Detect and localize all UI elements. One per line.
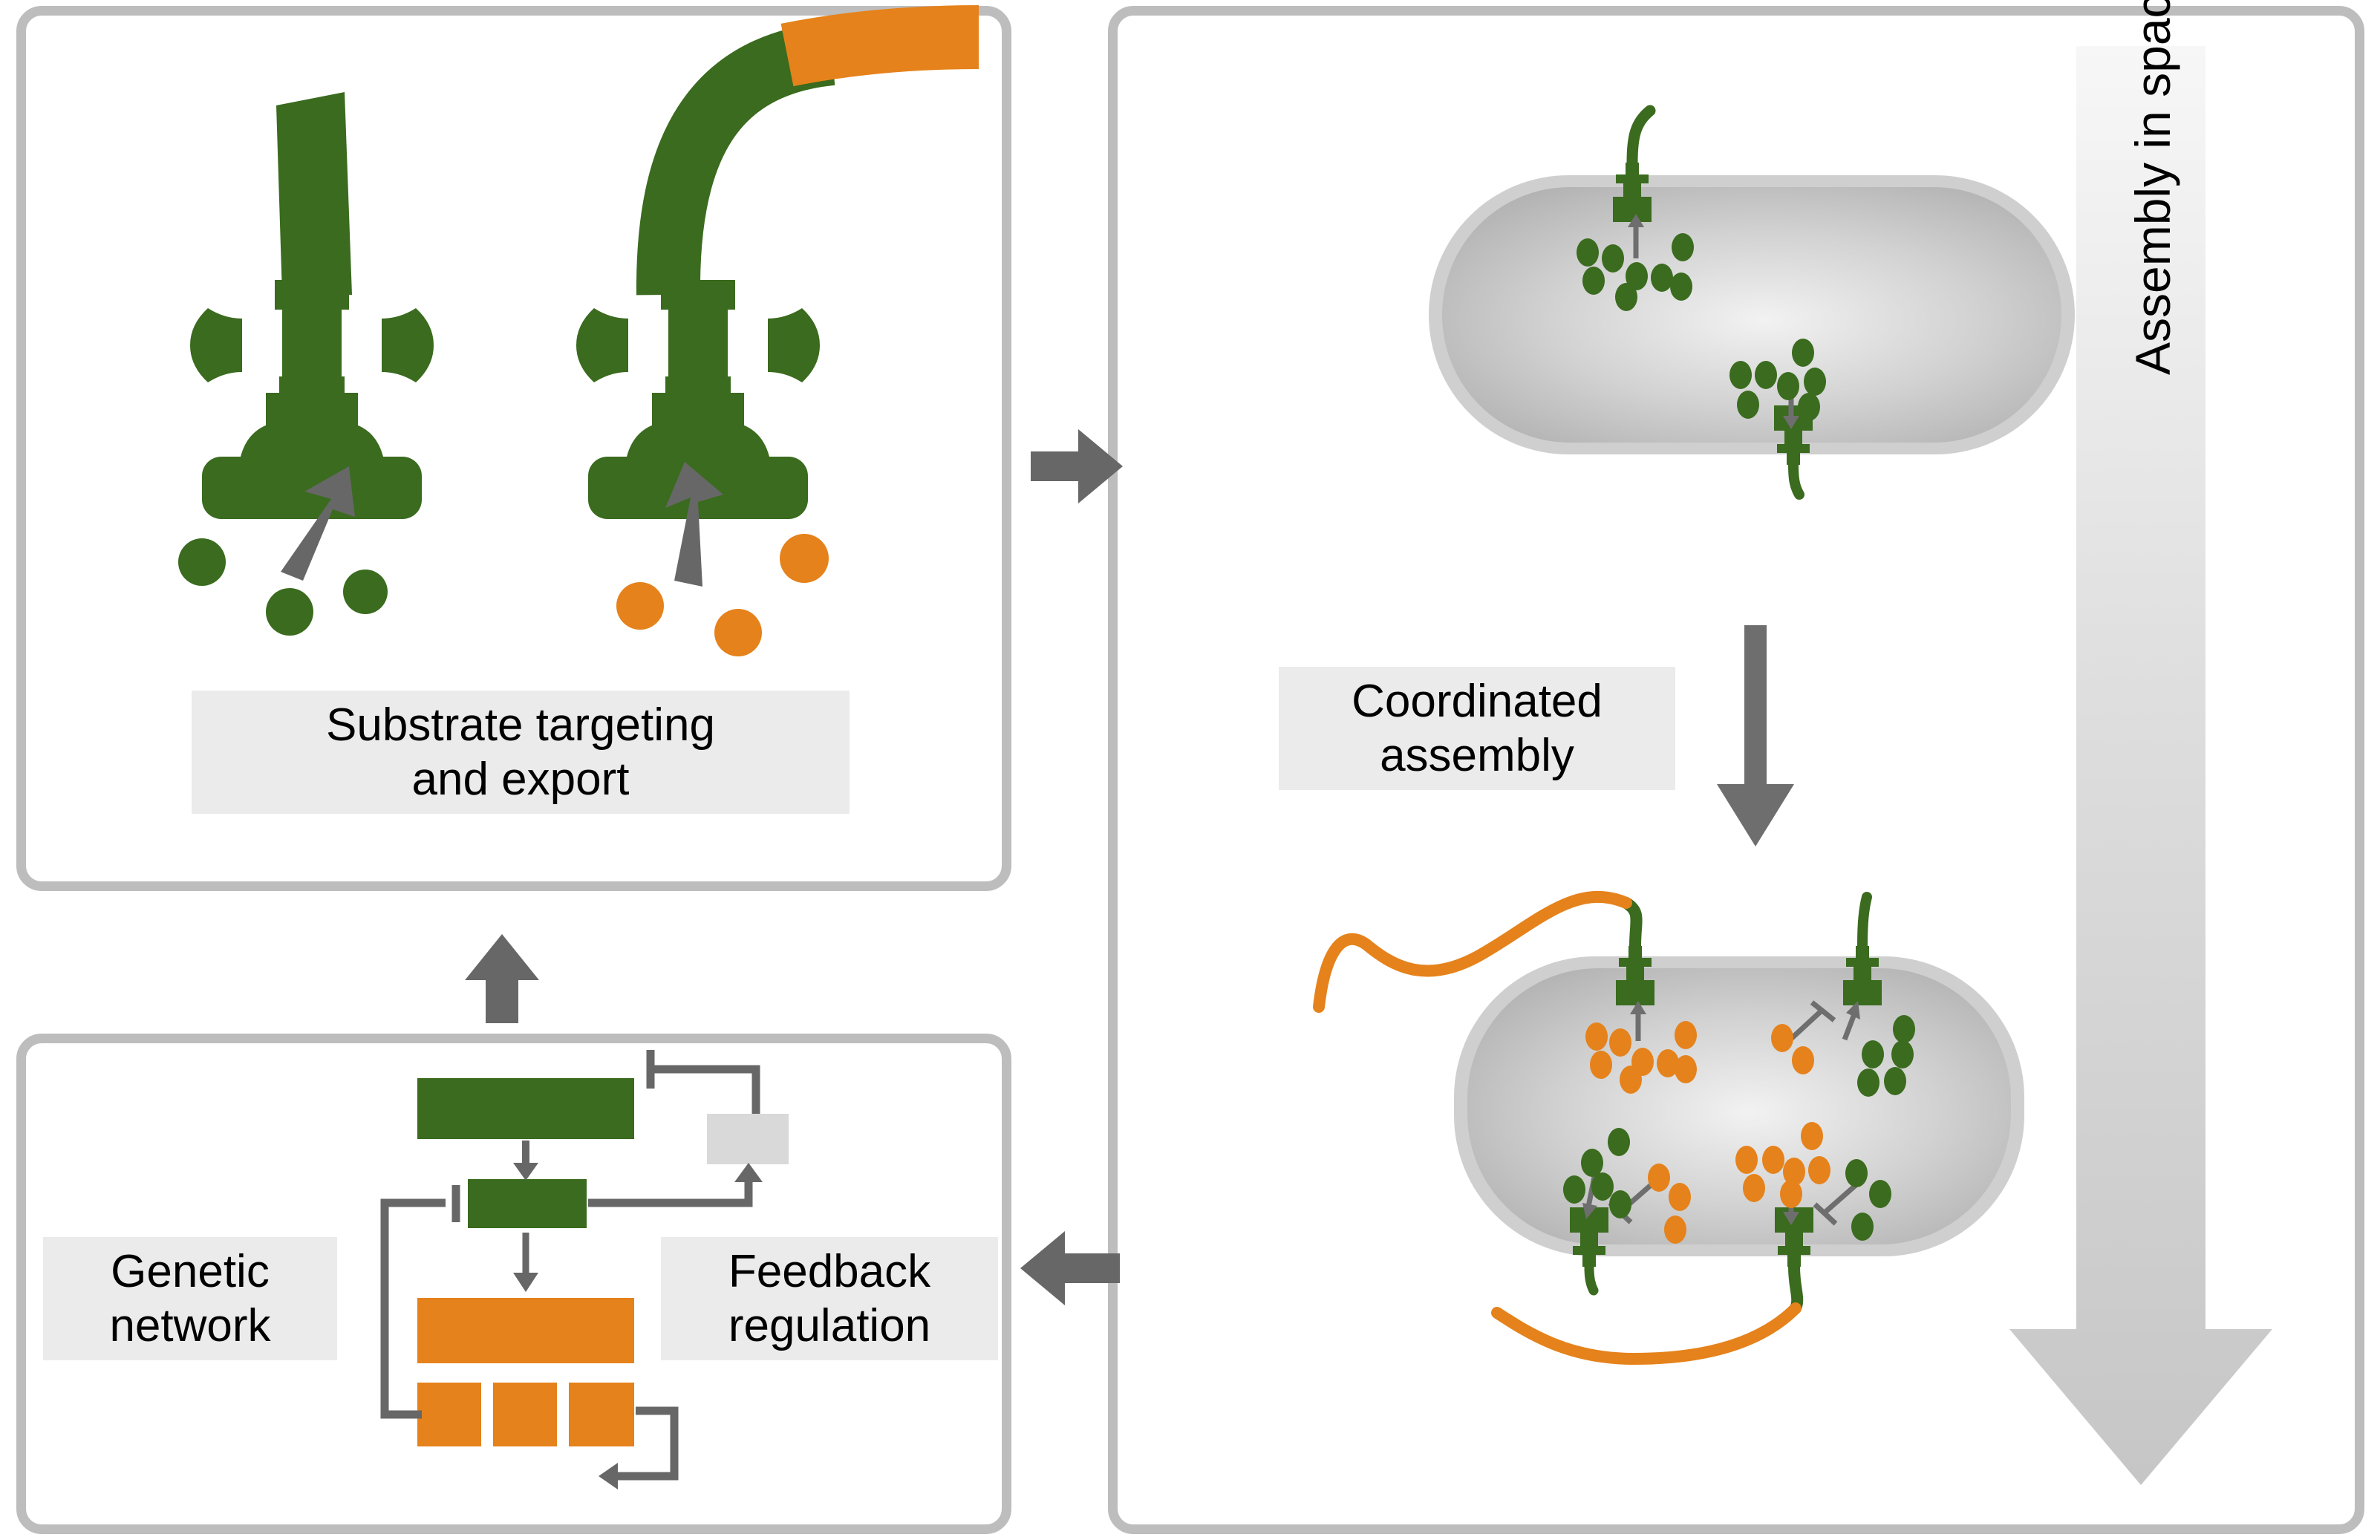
label-substrate-targeting-and-export: Substrate targeting and export xyxy=(192,691,850,814)
label-coordinated-assembly: Coordinated assembly xyxy=(1279,667,1675,790)
label-feedback-regulation: Feedback regulation xyxy=(661,1237,998,1360)
flow-arrow-genetic-to-substrate xyxy=(465,934,539,1023)
label-genetic-network: Genetic network xyxy=(43,1237,337,1360)
flow-arrow-assembly-to-genetic xyxy=(1020,1231,1120,1305)
label-assembly-in-space-and-time: Assembly in space and time xyxy=(2119,0,2186,375)
